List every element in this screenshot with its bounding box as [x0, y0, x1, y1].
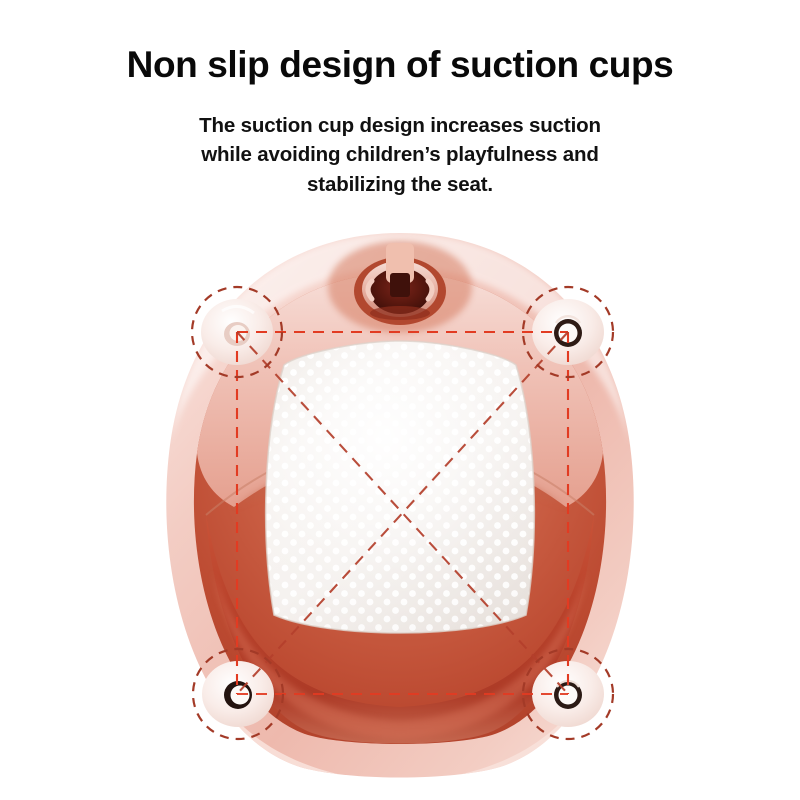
subtitle-line-1: The suction cup design increases suction	[140, 111, 660, 141]
product-image	[0, 215, 800, 800]
subtitle-line-3: stabilizing the seat.	[140, 170, 660, 200]
product-illustration	[0, 215, 800, 800]
drain-valve	[328, 241, 472, 333]
text-block: Non slip design of suction cups The suct…	[0, 44, 800, 199]
subtitle-line-2: while avoiding children’s playfulness an…	[140, 140, 660, 170]
marketing-image-canvas: Non slip design of suction cups The suct…	[0, 0, 800, 800]
page-title: Non slip design of suction cups	[0, 44, 800, 87]
subtitle: The suction cup design increases suction…	[140, 111, 660, 200]
